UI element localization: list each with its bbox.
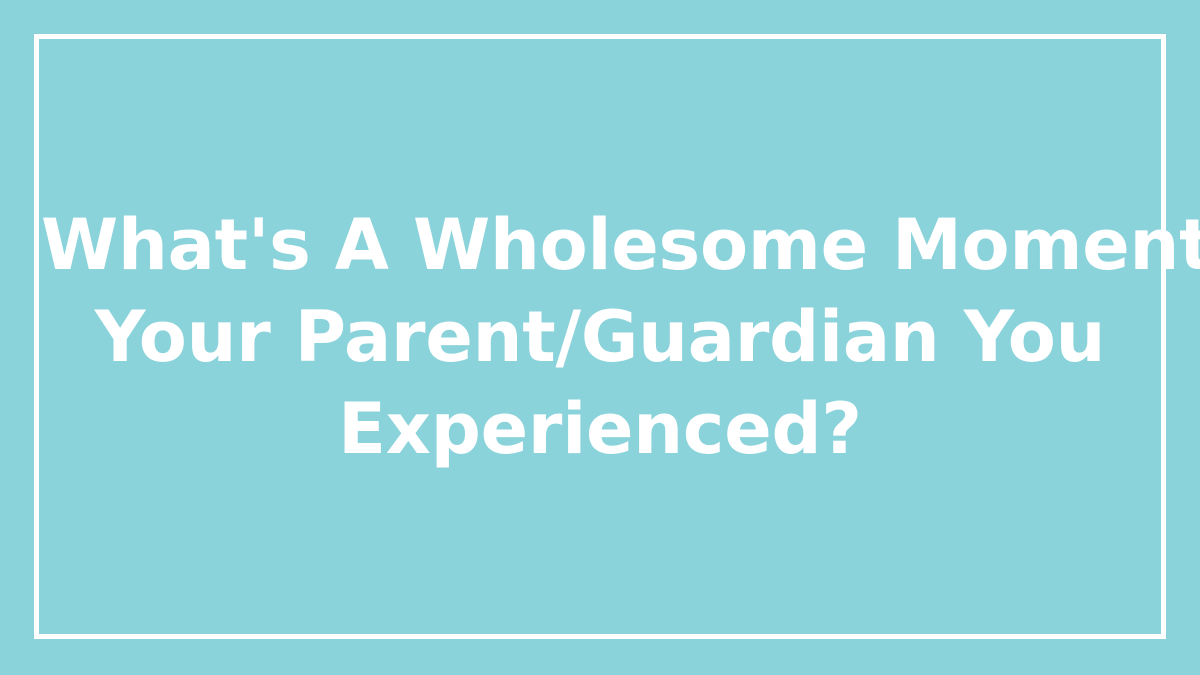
title-block: What's A Wholesome Moment With Your Pare… bbox=[39, 39, 1161, 634]
title-line-3: Experienced? bbox=[41, 383, 1159, 475]
title-line-1: What's A Wholesome Moment With bbox=[41, 199, 1159, 291]
poster-canvas: What's A Wholesome Moment With Your Pare… bbox=[0, 0, 1200, 675]
page-title: What's A Wholesome Moment With Your Pare… bbox=[41, 199, 1159, 475]
title-line-2: Your Parent/Guardian You bbox=[41, 291, 1159, 383]
